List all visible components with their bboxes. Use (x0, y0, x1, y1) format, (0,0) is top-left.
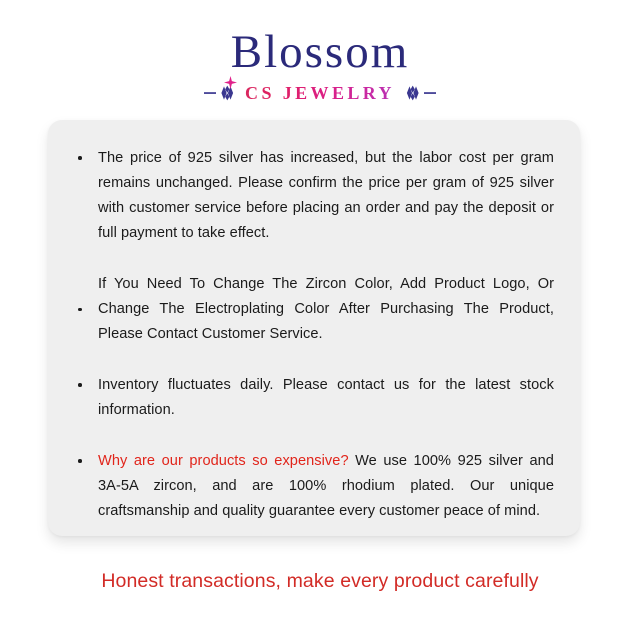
notice-card: The price of 925 silver has increased, b… (48, 120, 580, 536)
notice-list: The price of 925 silver has increased, b… (74, 146, 554, 524)
bullet-dot-icon (78, 459, 82, 463)
notice-item-customization: If You Need To Change The Zircon Color, … (74, 272, 554, 347)
notice-item-text: If You Need To Change The Zircon Color, … (98, 272, 554, 347)
diamond-ornament-right-icon (402, 85, 436, 101)
notice-item-pricing-explanation: Why are our products so expensive? We us… (74, 449, 554, 524)
notice-item-body: Why are our products so expensive? We us… (98, 449, 554, 524)
brand-subtitle-text: CS JEWELRY (245, 83, 395, 104)
bullet-dot-icon (78, 308, 82, 312)
pricing-question-highlight: Why are our products so expensive? (98, 453, 349, 469)
bullet-dot-icon (78, 383, 82, 387)
bullet-dot-icon (78, 156, 82, 160)
notice-item-text: Inventory fluctuates daily. Please conta… (98, 373, 554, 423)
notice-item-inventory: Inventory fluctuates daily. Please conta… (74, 373, 554, 423)
jewelry-notice-page: Blossom CS JEWELRY (0, 0, 640, 640)
brand-wordmark-text: Blossom (231, 26, 410, 78)
notice-item-text: The price of 925 silver has increased, b… (98, 146, 554, 246)
footer-tagline: Honest transactions, make every product … (0, 570, 640, 593)
notice-item-silver-price: The price of 925 silver has increased, b… (74, 146, 554, 246)
brand-header: Blossom CS JEWELRY (0, 28, 640, 104)
brand-subtitle-row: CS JEWELRY (0, 83, 640, 104)
diamond-ornament-left-icon (204, 85, 238, 101)
brand-wordmark: Blossom (231, 28, 410, 77)
